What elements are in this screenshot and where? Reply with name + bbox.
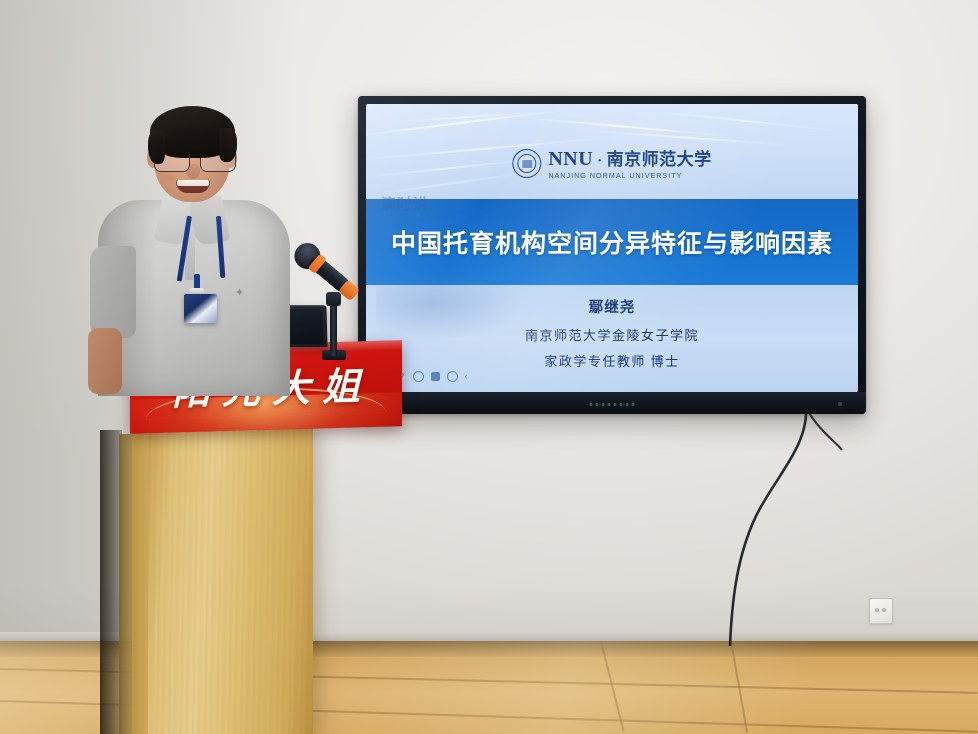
- podium-left-edge: [132, 430, 149, 734]
- left-sleeve: [90, 246, 136, 338]
- logo-text-block: NNU·南京师范大学 NANJING NORMAL UNIVERSITY: [548, 149, 711, 179]
- screenshot-icon[interactable]: [431, 372, 440, 381]
- presenter-role: 家政学专任教师 博士: [366, 351, 858, 370]
- university-logo: NNU·南京师范大学 NANJING NORMAL UNIVERSITY: [512, 149, 711, 179]
- smiling-mouth: [176, 180, 210, 193]
- display-screen[interactable]: 演时讲 NNU·南京师范大学 NANJING NORMAL UNIVERSITY…: [366, 104, 858, 392]
- teeth: [177, 180, 209, 186]
- hair-left-side: [148, 130, 165, 164]
- slide-surface: 演时讲 NNU·南京师范大学 NANJING NORMAL UNIVERSITY…: [366, 104, 858, 392]
- screen-annotation-toolbar[interactable]: ✐ ‹: [398, 371, 468, 382]
- cable-path: [716, 406, 916, 656]
- presenter-organization: 南京师范大学金陵女子学院: [366, 325, 858, 344]
- speaker-person: ✦: [88, 96, 328, 396]
- logo-english-name: NANJING NORMAL UNIVERSITY: [548, 172, 711, 179]
- logo-acronym: NNU: [548, 148, 593, 170]
- speaker-grille-icon: [590, 403, 635, 406]
- podium-wood-grain: [148, 424, 313, 734]
- slide-presenter-block: 鄢继尧 南京师范大学金陵女子学院 家政学专任教师 博士: [366, 296, 858, 370]
- podium-left-side: [119, 434, 133, 734]
- selection-icon[interactable]: [413, 371, 424, 382]
- podium-body: [148, 424, 313, 734]
- hair-right-side: [219, 128, 237, 162]
- presenter-name: 鄢继尧: [366, 296, 858, 317]
- id-badge: [184, 294, 217, 323]
- settings-icon[interactable]: [447, 371, 458, 382]
- presentation-photo-scene: 演时讲 NNU·南京师范大学 NANJING NORMAL UNIVERSITY…: [0, 0, 978, 734]
- logo-wordmark: NNU·南京师范大学: [548, 149, 711, 169]
- slide-ghost-text: 演时讲: [381, 193, 429, 214]
- left-forearm: [88, 328, 122, 394]
- university-seal-icon: [512, 149, 541, 178]
- logo-chinese-name: 南京师范大学: [607, 150, 712, 169]
- collapse-chevron-icon[interactable]: ‹: [465, 371, 468, 381]
- shirt-logo-icon: ✦: [235, 288, 250, 299]
- slide-title: 中国托育机构空间分异特征与影响因素: [366, 224, 858, 260]
- wall-display[interactable]: 演时讲 NNU·南京师范大学 NANJING NORMAL UNIVERSITY…: [358, 96, 866, 414]
- logo-separator: ·: [597, 153, 603, 169]
